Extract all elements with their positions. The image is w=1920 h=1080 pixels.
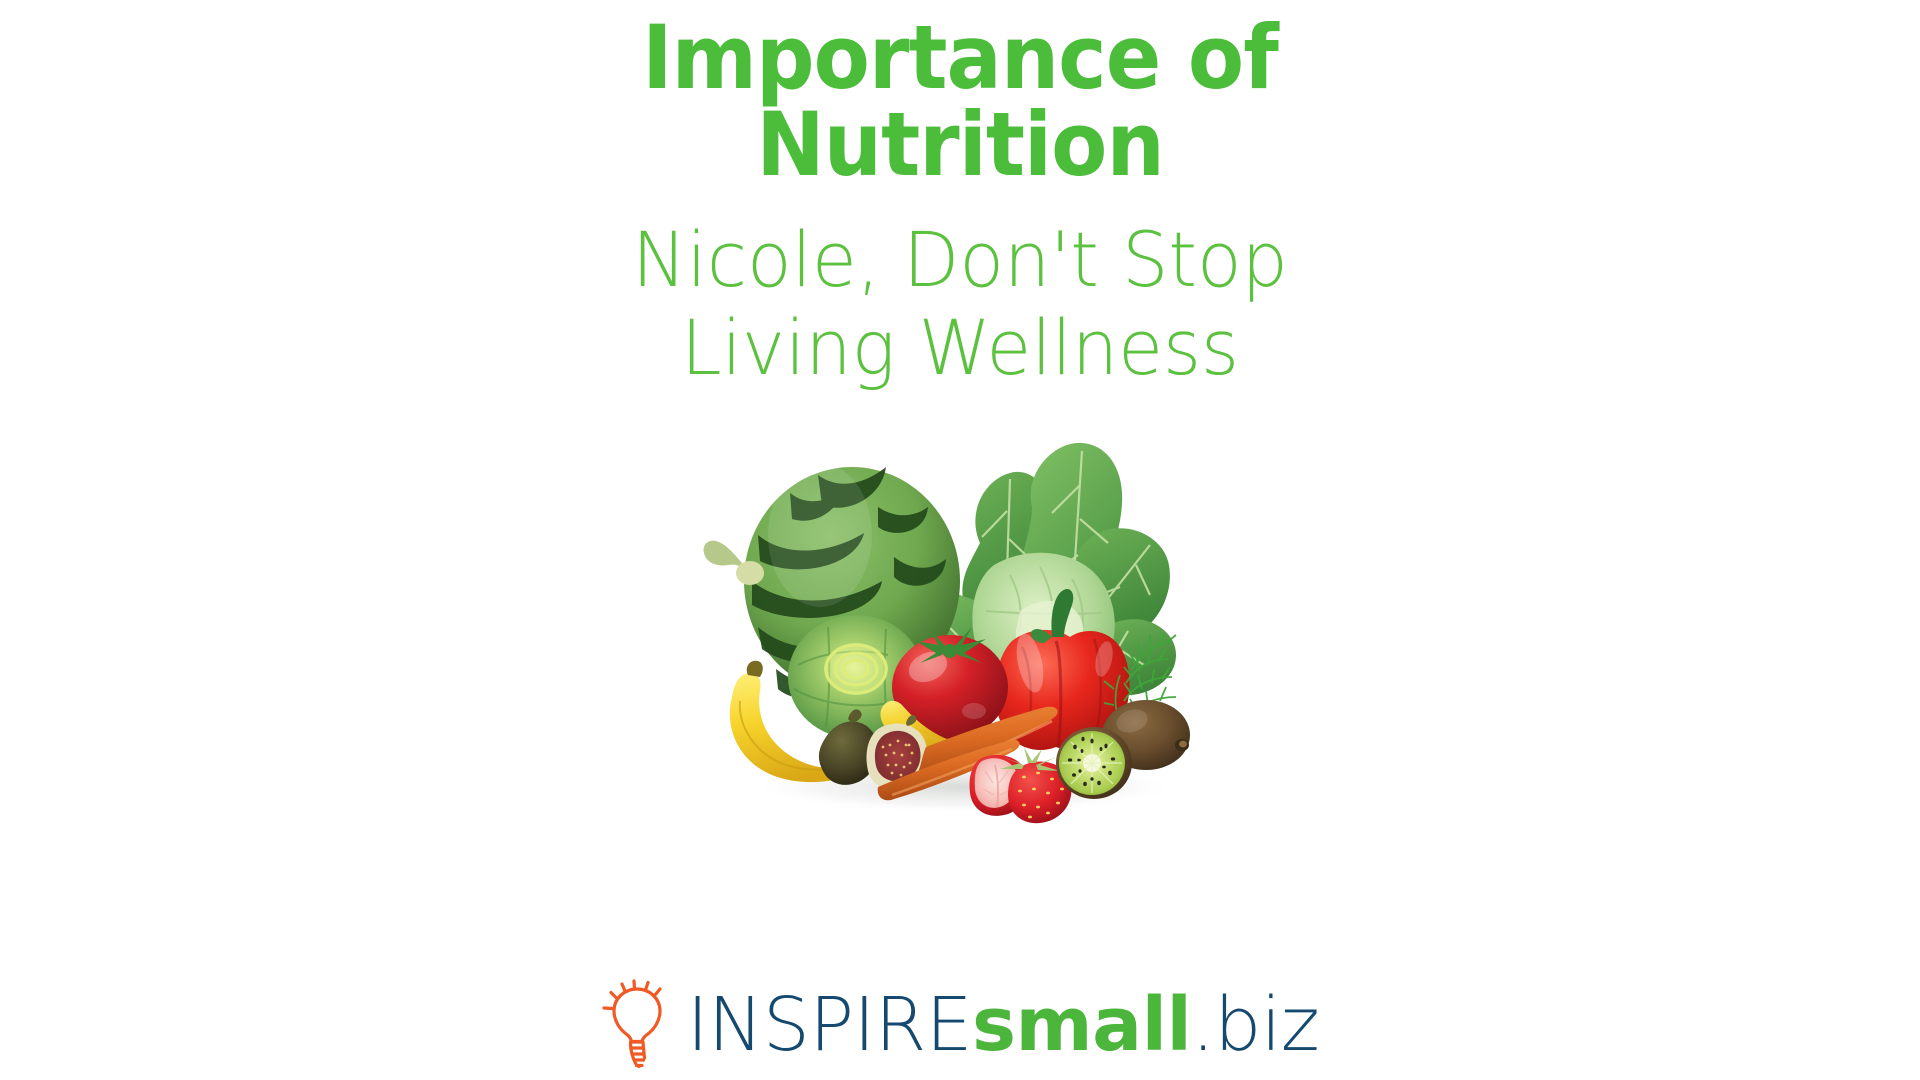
lightbulb-icon (601, 978, 673, 1072)
logo-inspire-text: INSPIRE (687, 982, 972, 1068)
slide-canvas: Importance of Nutrition Nicole, Don't St… (0, 0, 1920, 1080)
subtitle-line-2: Living Wellness (38, 304, 1881, 392)
title-line-1: Importance of (67, 14, 1853, 101)
page-subtitle: Nicole, Don't Stop Living Wellness (0, 216, 1920, 392)
title-line-2: Nutrition (67, 101, 1853, 188)
logo-small-text: small (972, 982, 1191, 1068)
logo-wordmark: INSPIREsmall.biz (687, 988, 1320, 1062)
page-title: Importance of Nutrition (0, 14, 1920, 188)
fruits-and-vegetables-illustration (680, 415, 1240, 815)
logo-biz-text: .biz (1191, 982, 1319, 1068)
subtitle-line-1: Nicole, Don't Stop (38, 216, 1881, 304)
brand-logo[interactable]: INSPIREsmall.biz (0, 978, 1920, 1072)
kiwi-half (1056, 727, 1132, 799)
